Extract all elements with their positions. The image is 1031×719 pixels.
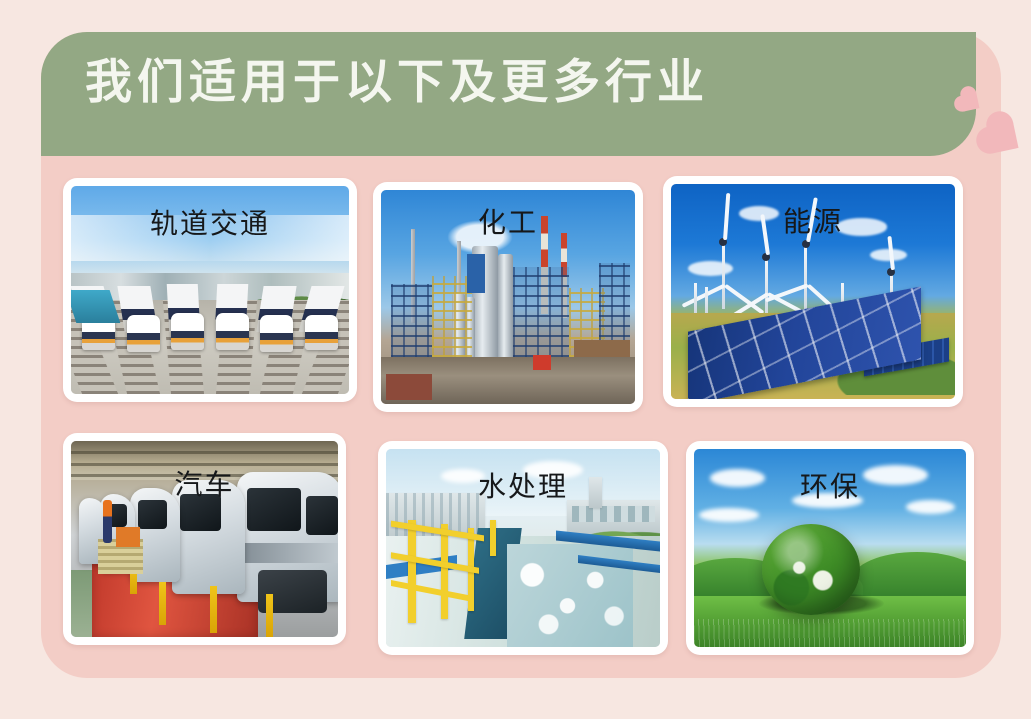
automotive-photo: 汽车: [71, 441, 338, 637]
environment-photo: 环保: [694, 449, 966, 647]
industry-label-automotive: 汽车: [71, 471, 338, 499]
industry-label-environment: 环保: [694, 473, 966, 501]
industry-label-chemical: 化工: [381, 209, 635, 237]
industry-card-grid: 轨道交通: [0, 0, 1031, 719]
water-treatment-photo: 水处理: [386, 449, 660, 647]
industry-label-rail-transit: 轨道交通: [71, 210, 349, 238]
energy-photo: 能源: [671, 184, 955, 399]
chemical-plant-photo: 化工: [381, 190, 635, 404]
industry-card-automotive[interactable]: 汽车: [63, 433, 346, 645]
industry-card-water-treatment[interactable]: 水处理: [378, 441, 668, 655]
industry-card-environment[interactable]: 环保: [686, 441, 974, 655]
industry-card-rail-transit[interactable]: 轨道交通: [63, 178, 357, 402]
industry-label-water-treatment: 水处理: [386, 473, 660, 501]
industry-card-energy[interactable]: 能源: [663, 176, 963, 407]
industry-label-energy: 能源: [671, 208, 955, 236]
industry-card-chemical[interactable]: 化工: [373, 182, 643, 412]
rail-transit-photo: 轨道交通: [71, 186, 349, 394]
poster-page: 我们适用于以下及更多行业: [0, 0, 1031, 719]
